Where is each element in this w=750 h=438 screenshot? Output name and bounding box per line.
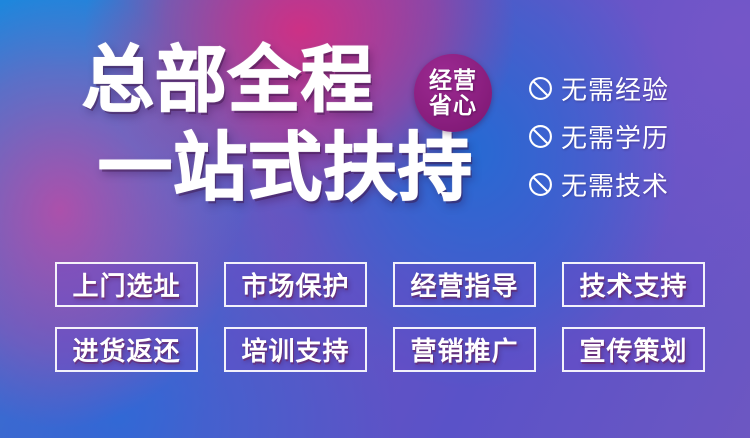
support-tag[interactable]: 营销推广 — [393, 327, 536, 372]
feature-label: 无需学历 — [561, 118, 669, 155]
support-tag[interactable]: 市场保护 — [224, 262, 367, 307]
support-tag-label: 宣传策划 — [579, 331, 687, 368]
support-tag[interactable]: 上门选址 — [55, 262, 198, 307]
headline-line-1: 总部全程 — [82, 44, 374, 118]
promotional-banner: 总部全程 一站式扶持 经营 省心 无需经验 无需学历 无需技术 — [0, 0, 750, 438]
support-tag[interactable]: 技术支持 — [562, 262, 705, 307]
feature-item-no-skill: 无需技术 — [528, 160, 728, 208]
feature-label: 无需技术 — [561, 166, 669, 203]
seal-badge: 经营 省心 — [414, 54, 492, 132]
support-tag-label: 进货返还 — [72, 331, 180, 368]
feature-list: 无需经验 无需学历 无需技术 — [528, 64, 728, 208]
prohibition-icon — [528, 124, 553, 149]
support-tag[interactable]: 经营指导 — [393, 262, 536, 307]
support-tag[interactable]: 进货返还 — [55, 327, 198, 372]
support-tag-label: 市场保护 — [241, 266, 349, 303]
support-tag-label: 上门选址 — [72, 266, 180, 303]
support-tag-label: 营销推广 — [410, 331, 518, 368]
feature-item-no-education: 无需学历 — [528, 112, 728, 160]
seal-badge-line-1: 经营 — [429, 68, 477, 93]
prohibition-icon — [528, 76, 553, 101]
feature-item-no-experience: 无需经验 — [528, 64, 728, 112]
prohibition-icon — [528, 172, 553, 197]
support-tag-label: 培训支持 — [241, 331, 349, 368]
feature-label: 无需经验 — [561, 70, 669, 107]
support-tag-label: 经营指导 — [410, 266, 518, 303]
support-tag-grid: 上门选址 市场保护 经营指导 技术支持 进货返还 培训支持 营销推广 宣传策划 — [55, 262, 695, 372]
seal-badge-line-2: 省心 — [429, 93, 477, 118]
support-tag[interactable]: 培训支持 — [224, 327, 367, 372]
support-tag-label: 技术支持 — [579, 266, 687, 303]
support-tag[interactable]: 宣传策划 — [562, 327, 705, 372]
headline-line-2: 一站式扶持 — [98, 130, 473, 206]
